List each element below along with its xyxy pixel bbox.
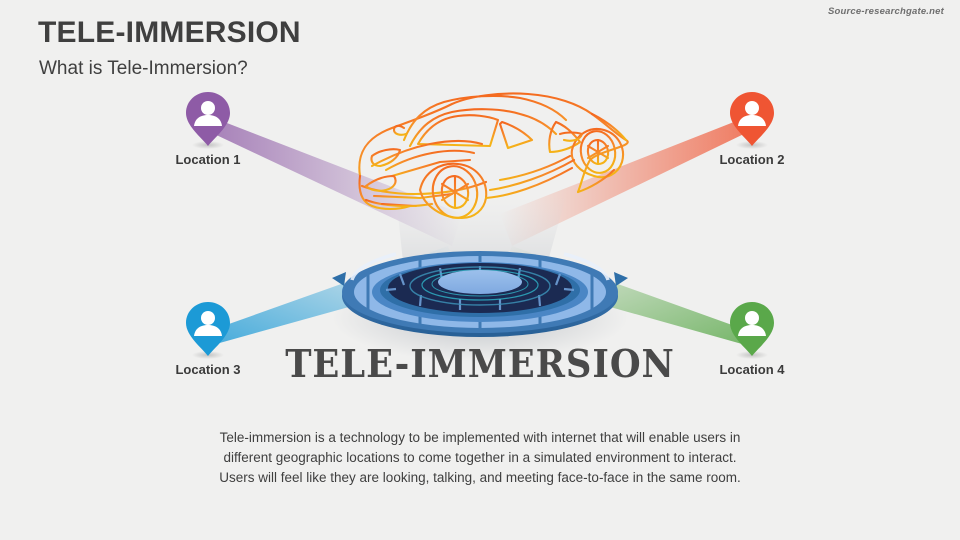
location-marker-2[interactable]: Location 2: [692, 88, 812, 167]
description-line-3: Users will feel like they are looking, t…: [170, 468, 790, 488]
description-line-1: Tele-immersion is a technology to be imp…: [170, 428, 790, 448]
location-label: Location 2: [692, 152, 812, 167]
location-label: Location 1: [148, 152, 268, 167]
description-line-2: different geographic locations to come t…: [170, 448, 790, 468]
map-pin-icon: [724, 88, 780, 150]
tele-immersion-wordmark: TELE-IMMERSION: [34, 341, 927, 386]
pin-wrapper: [148, 88, 268, 150]
description-paragraph: Tele-immersion is a technology to be imp…: [170, 428, 790, 488]
location-marker-1[interactable]: Location 1: [148, 88, 268, 167]
map-pin-icon: [180, 88, 236, 150]
pin-wrapper: [692, 88, 812, 150]
slide-root: TELE-IMMERSION What is Tele-Immersion? S…: [0, 0, 960, 540]
